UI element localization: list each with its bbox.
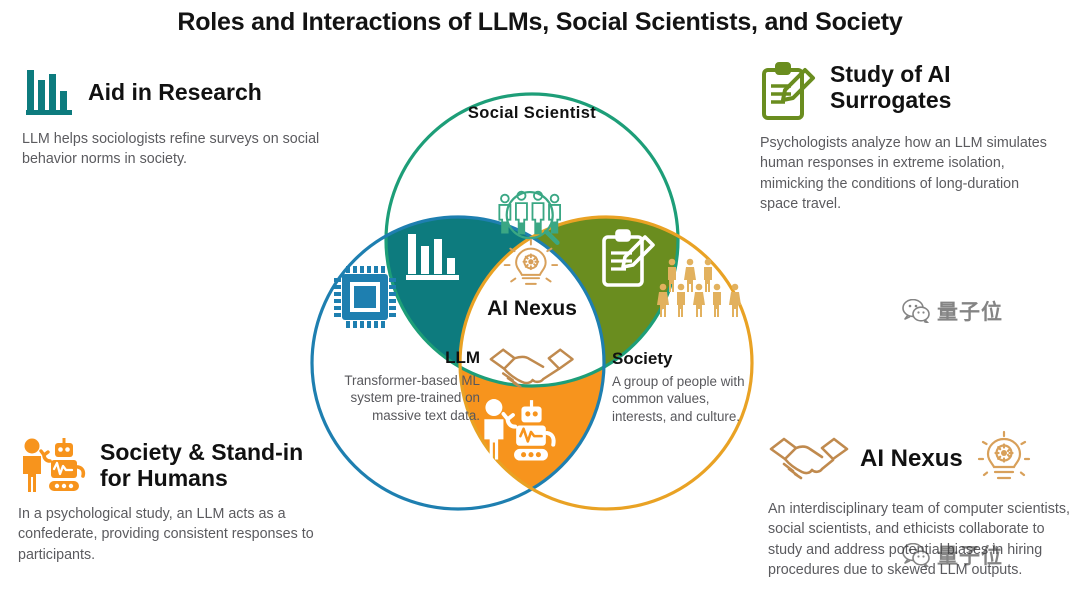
block-body: LLM helps sociologists refine surveys on…: [22, 129, 322, 170]
block-heading: AI Nexus: [860, 446, 963, 473]
block-heading-line1: Study of AI: [830, 62, 951, 88]
block-header: Study of AI Surrogates: [760, 62, 1060, 124]
venn-label-social-scientist: Social Scientist: [296, 104, 768, 123]
venn-label-llm: LLM: [320, 348, 480, 368]
bar-chart-icon: [22, 66, 76, 120]
infographic-root: Roles and Interactions of LLMs, Social S…: [0, 0, 1080, 607]
venn-diagram: Social Scientist AI Nexus LLM Transforme…: [296, 58, 768, 528]
block-heading: Society & Stand-in for Humans: [100, 440, 303, 492]
venn-label-ai-nexus: AI Nexus: [296, 297, 768, 321]
watermark-text: 量子位: [937, 296, 1003, 326]
page-title: Roles and Interactions of LLMs, Social S…: [0, 8, 1080, 37]
block-study-of-ai-surrogates: Study of AI Surrogates Psychologists ana…: [760, 62, 1060, 214]
block-body: An interdisciplinary team of computer sc…: [768, 499, 1073, 580]
watermark-middle: 量子位: [902, 296, 1003, 326]
wechat-icon: [902, 299, 930, 323]
block-heading: Study of AI Surrogates: [830, 62, 951, 114]
venn-desc-llm: Transformer-based ML system pre-trained …: [306, 372, 480, 424]
venn-svg: [296, 58, 768, 528]
block-header: Aid in Research: [22, 66, 322, 120]
block-heading-line2: for Humans: [100, 466, 303, 492]
human-robot-icon: [18, 437, 88, 495]
block-heading: Aid in Research: [88, 80, 262, 106]
block-header: AI Nexus: [768, 428, 1073, 490]
lightbulb-gear-icon: [973, 428, 1035, 490]
clipboard-pencil-icon: [760, 62, 818, 124]
handshake-icon: [768, 433, 850, 485]
block-aid-in-research: Aid in Research LLM helps sociologists r…: [22, 66, 322, 170]
block-body: Psychologists analyze how an LLM simulat…: [760, 133, 1060, 214]
venn-label-society: Society: [612, 349, 762, 369]
venn-desc-society: A group of people with common values, in…: [612, 373, 764, 425]
block-heading-line1: Society & Stand-in: [100, 440, 303, 466]
block-heading-line2: Surrogates: [830, 88, 951, 114]
block-ai-nexus: AI Nexus An interdisciplinary team of co…: [768, 428, 1073, 580]
